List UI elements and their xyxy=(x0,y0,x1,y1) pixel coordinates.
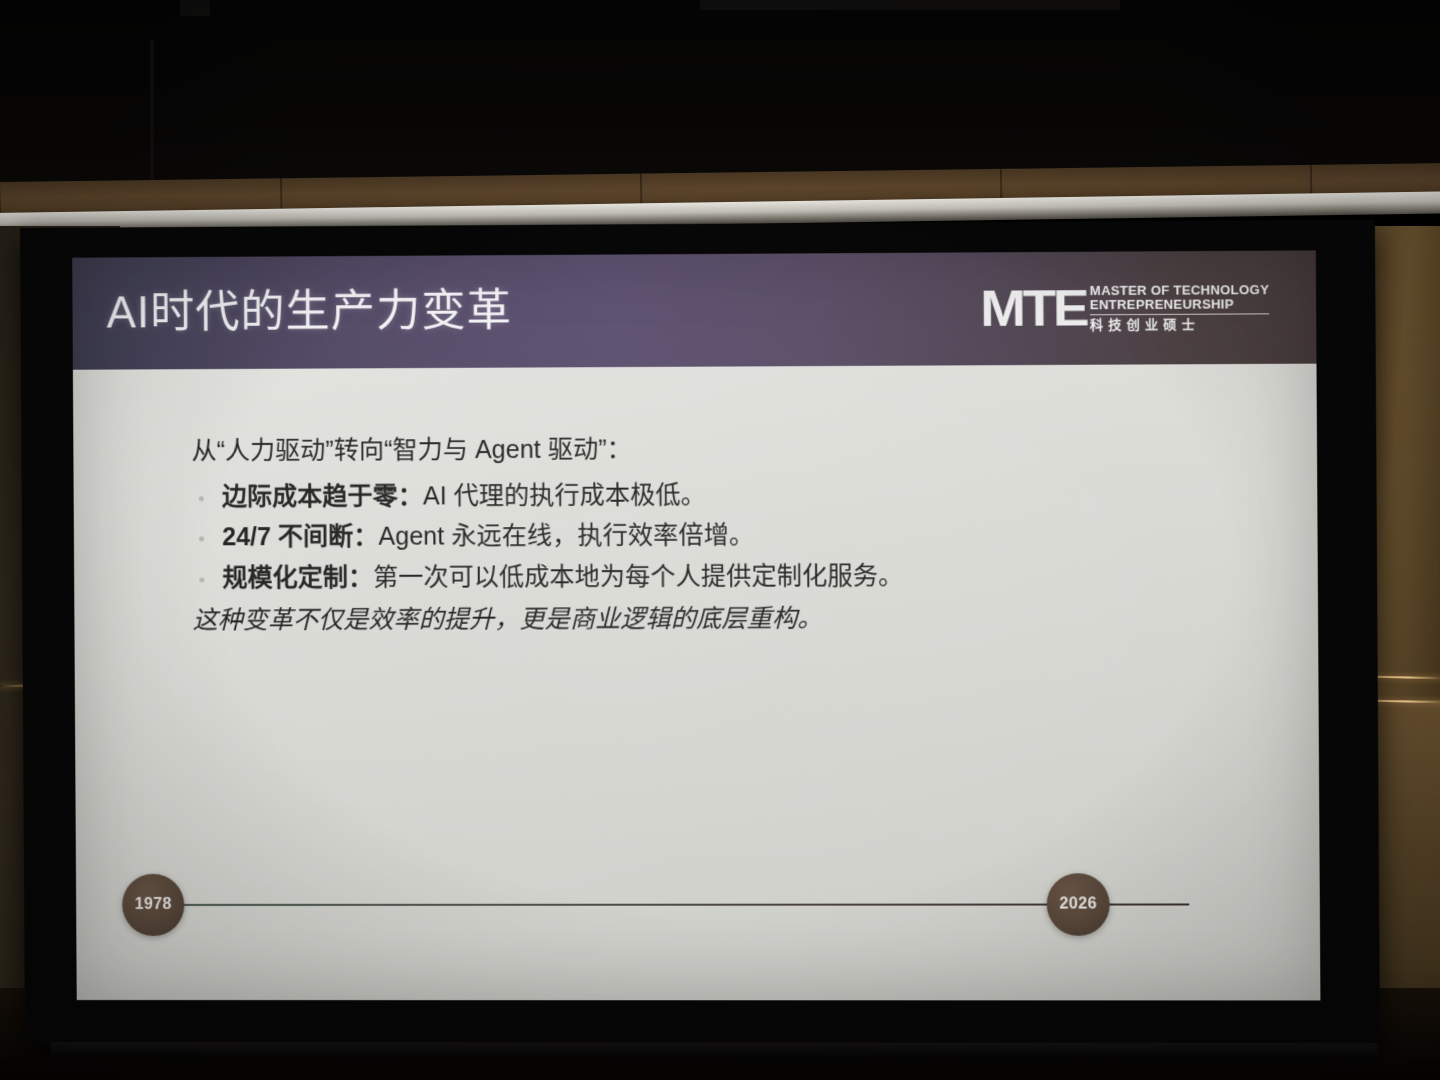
projection-screen-surface: AI时代的生产力变革 MTE MASTER OF TECHNOLOGY ENTR… xyxy=(72,250,1320,1000)
bullet-list: 边际成本趋于零：AI 代理的执行成本极低。 24/7 不间断：Agent 永远在… xyxy=(192,473,1204,599)
bullet-dot-icon xyxy=(199,536,204,541)
bullet-item: 边际成本趋于零：AI 代理的执行成本极低。 xyxy=(192,473,1203,518)
lead-line: 从“人力驱动”转向“智力与 Agent 驱动”： xyxy=(191,429,1202,471)
mte-logo: MTE MASTER OF TECHNOLOGY ENTREPRENEURSHI… xyxy=(983,283,1269,333)
mte-wordmark: MTE xyxy=(980,286,1086,332)
projection-screen-frame: AI时代的生产力变革 MTE MASTER OF TECHNOLOGY ENTR… xyxy=(20,220,1380,1047)
bullet-term: 24/7 不间断： xyxy=(222,523,378,552)
presentation-slide: AI时代的生产力变革 MTE MASTER OF TECHNOLOGY ENTR… xyxy=(72,250,1320,1000)
slide-header-band: AI时代的生产力变革 MTE MASTER OF TECHNOLOGY ENTR… xyxy=(72,250,1316,369)
bullet-term: 边际成本趋于零： xyxy=(222,482,423,511)
timeline-node-label: 1978 xyxy=(135,896,172,914)
timeline-node-1978: 1978 xyxy=(122,874,185,936)
bullet-detail: Agent 永远在线，执行效率倍增。 xyxy=(378,521,754,550)
bullet-item: 规模化定制：第一次可以低成本地为每个人提供定制化服务。 xyxy=(192,555,1203,599)
screen-weight-bar xyxy=(51,1042,1378,1059)
mte-logo-chinese: 科技创业硕士 xyxy=(1090,317,1269,332)
bullet-item: 24/7 不间断：Agent 永远在线，执行效率倍增。 xyxy=(192,514,1203,558)
mte-logo-line2: ENTREPRENEURSHIP xyxy=(1090,297,1269,312)
ceiling-fixture xyxy=(180,0,210,16)
timeline-node-label: 2026 xyxy=(1059,895,1097,913)
bullet-dot-icon xyxy=(199,496,204,501)
bullet-dot-icon xyxy=(199,577,204,582)
mte-logo-divider xyxy=(1090,313,1269,315)
timeline: 1978 2026 xyxy=(76,845,1320,966)
timeline-axis-line xyxy=(148,903,1189,905)
closing-line: 这种变革不仅是效率的提升，更是商业逻辑的底层重构。 xyxy=(193,599,1204,640)
mte-logo-text: MASTER OF TECHNOLOGY ENTREPRENEURSHIP 科技… xyxy=(1090,283,1270,333)
slide-title: AI时代的生产力变革 xyxy=(106,289,512,335)
bullet-term: 规模化定制： xyxy=(222,563,373,592)
timeline-node-2026: 2026 xyxy=(1046,873,1109,936)
ceiling-rail xyxy=(150,40,154,180)
lecture-room-scene: AI时代的生产力变革 MTE MASTER OF TECHNOLOGY ENTR… xyxy=(0,0,1440,1080)
ceiling-fixture xyxy=(700,0,1120,10)
bullet-detail: 第一次可以低成本地为每个人提供定制化服务。 xyxy=(373,562,904,592)
bullet-detail: AI 代理的执行成本极低。 xyxy=(423,481,706,510)
slide-body: 从“人力驱动”转向“智力与 Agent 驱动”： 边际成本趋于零：AI 代理的执… xyxy=(191,429,1203,640)
